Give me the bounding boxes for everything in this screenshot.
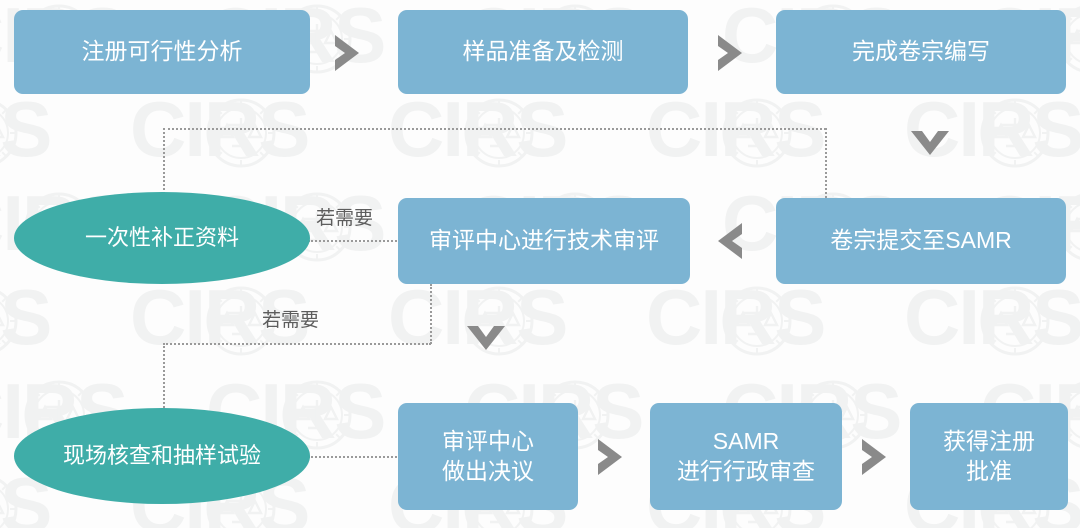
- scales-of-justice-seal-icon: [204, 96, 278, 170]
- node-label: 审评中心进行技术审评: [429, 226, 659, 255]
- node-label: 现场核查和抽样试验: [63, 442, 261, 470]
- node-registration-approval-obtained[interactable]: 获得注册 批准: [910, 403, 1068, 510]
- arrow-down-icon-a3: [908, 126, 952, 166]
- node-label: 获得注册 批准: [943, 427, 1035, 486]
- flowchart-canvas: CIRSCIRSCIRSCIRSCIRSCIRSCIRSCIRSCIRSCIRS…: [0, 0, 1080, 528]
- connector-c3-horizontal: [163, 343, 431, 345]
- arrow-right-icon-a1: [329, 33, 371, 73]
- node-label: 审评中心 做出决议: [442, 427, 534, 486]
- scales-of-justice-seal-icon: [978, 96, 1052, 170]
- node-review-center-resolution[interactable]: 审评中心 做出决议: [398, 403, 578, 510]
- node-technical-review-by-center[interactable]: 审评中心进行技术审评: [398, 198, 690, 284]
- node-label: 样品准备及检测: [463, 37, 624, 66]
- scales-of-justice-seal-icon: [0, 472, 20, 528]
- connector-c1-horizontal: [163, 128, 826, 130]
- arrow-right-icon-a2: [712, 33, 754, 73]
- node-complete-dossier-writing[interactable]: 完成卷宗编写: [776, 10, 1066, 94]
- connector-c1-vertical-left: [163, 128, 165, 194]
- scales-of-justice-seal-icon: [978, 284, 1052, 358]
- connector-c3-vertical-right: [430, 284, 432, 344]
- scales-of-justice-seal-icon: [462, 96, 536, 170]
- connector-c2-horizontal: [308, 240, 400, 242]
- scales-of-justice-seal-icon: [0, 284, 20, 358]
- node-label: 一次性补正资料: [85, 224, 239, 252]
- edge-label-if-needed-2: 若需要: [262, 305, 319, 332]
- node-one-time-supplementary-materials[interactable]: 一次性补正资料: [14, 192, 310, 284]
- watermark-text: CIRS: [0, 272, 50, 363]
- arrow-left-icon-a4: [706, 221, 748, 261]
- connector-c3-vertical-left: [163, 343, 165, 411]
- node-onsite-inspection-and-sampling-test[interactable]: 现场核查和抽样试验: [14, 408, 310, 504]
- node-label: SAMR 进行行政审查: [677, 427, 815, 486]
- node-sample-preparation-and-testing[interactable]: 样品准备及检测: [398, 10, 688, 94]
- scales-of-justice-seal-icon: [720, 96, 794, 170]
- connector-c1-vertical-right: [825, 128, 827, 198]
- arrow-right-icon-a6: [592, 437, 634, 477]
- watermark-text: CIRS: [904, 272, 1080, 363]
- node-label: 完成卷宗编写: [852, 37, 990, 66]
- scales-of-justice-seal-icon: [0, 96, 20, 170]
- node-dossier-submitted-to-samr[interactable]: 卷宗提交至SAMR: [776, 198, 1066, 284]
- watermark-text: CIRS: [0, 84, 50, 175]
- scales-of-justice-seal-icon: [720, 284, 794, 358]
- node-label: 注册可行性分析: [82, 37, 243, 66]
- watermark-text: CIRS: [646, 272, 824, 363]
- node-label: 卷宗提交至SAMR: [830, 226, 1011, 255]
- connector-c4-horizontal: [308, 456, 400, 458]
- arrow-right-icon-a7: [856, 437, 898, 477]
- arrow-down-icon-a5: [464, 321, 508, 361]
- node-samr-administrative-review[interactable]: SAMR 进行行政审查: [650, 403, 842, 510]
- node-registration-feasibility-analysis[interactable]: 注册可行性分析: [14, 10, 310, 94]
- edge-label-if-needed-1: 若需要: [316, 203, 373, 230]
